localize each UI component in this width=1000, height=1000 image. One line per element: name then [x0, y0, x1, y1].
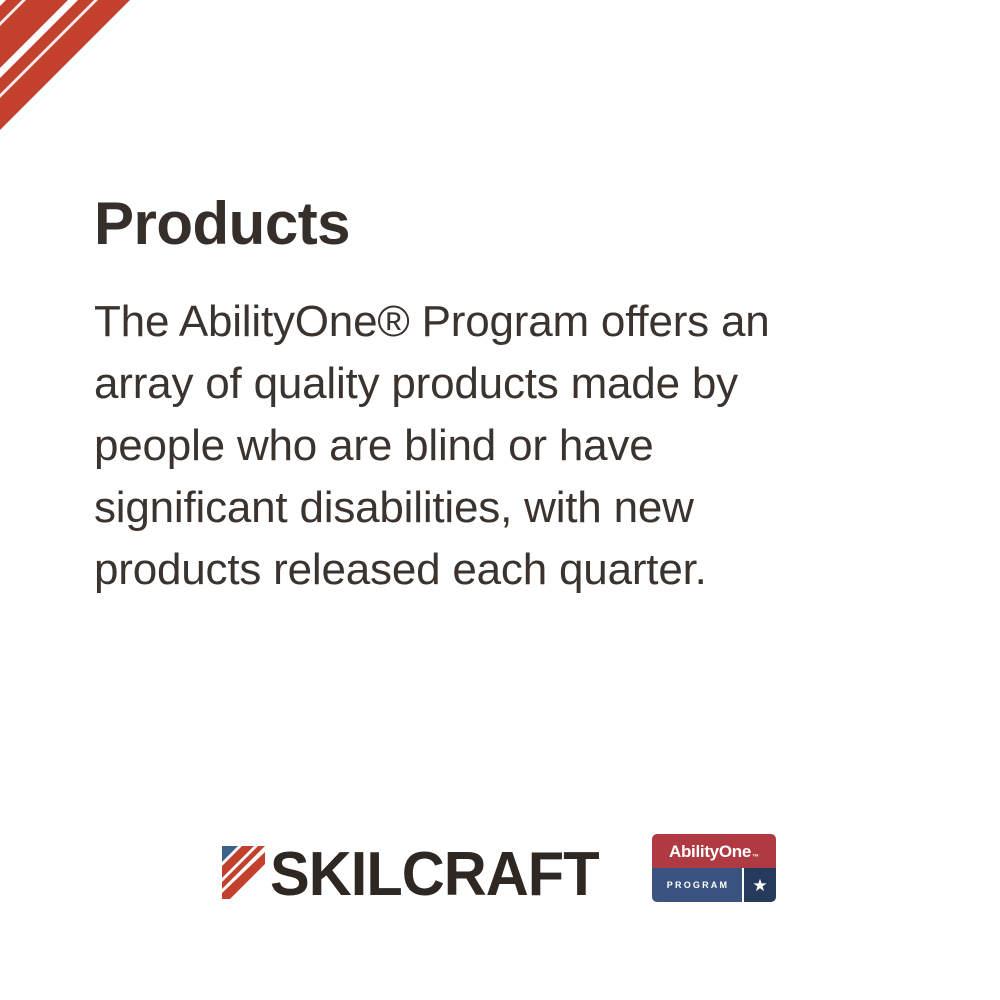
page-title: Products — [94, 192, 894, 255]
abilityone-program-label-wrap: PROGRAM — [652, 868, 742, 902]
stripe-red-2 — [0, 0, 170, 142]
abilityone-name-text: AbilityOne — [669, 843, 751, 860]
abilityone-trademark-mark: ™ — [752, 854, 759, 861]
abilityone-program-block: PROGRAM ★ — [652, 868, 776, 902]
skilcraft-flag-mark-icon — [218, 844, 266, 906]
body-paragraph: The AbilityOne® Program offers an array … — [94, 291, 834, 601]
content-block: Products The AbilityOne® Program offers … — [94, 192, 894, 601]
star-icon: ★ — [752, 877, 767, 894]
abilityone-logo: AbilityOne ™ PROGRAM ★ — [652, 834, 776, 902]
corner-stripes-decoration — [0, 0, 200, 215]
stripe-red-1 — [0, 0, 108, 128]
stripe-red-2-inner-gap — [0, 0, 138, 108]
skilcraft-wordmark: SKILCRAFT — [270, 844, 599, 906]
stripe-blue — [0, 0, 34, 114]
skilcraft-logo: SKILCRAFT — [218, 834, 612, 916]
abilityone-program-label: PROGRAM — [665, 881, 729, 890]
footer-logo-row: SKILCRAFT AbilityOne ™ PROGRAM ★ — [0, 820, 1000, 930]
stripe-red-1-inner-gap — [0, 0, 66, 84]
skilcraft-mark-red-3 — [222, 852, 265, 899]
abilityone-name-block: AbilityOne ™ — [652, 834, 776, 868]
abilityone-star-box: ★ — [742, 868, 776, 902]
